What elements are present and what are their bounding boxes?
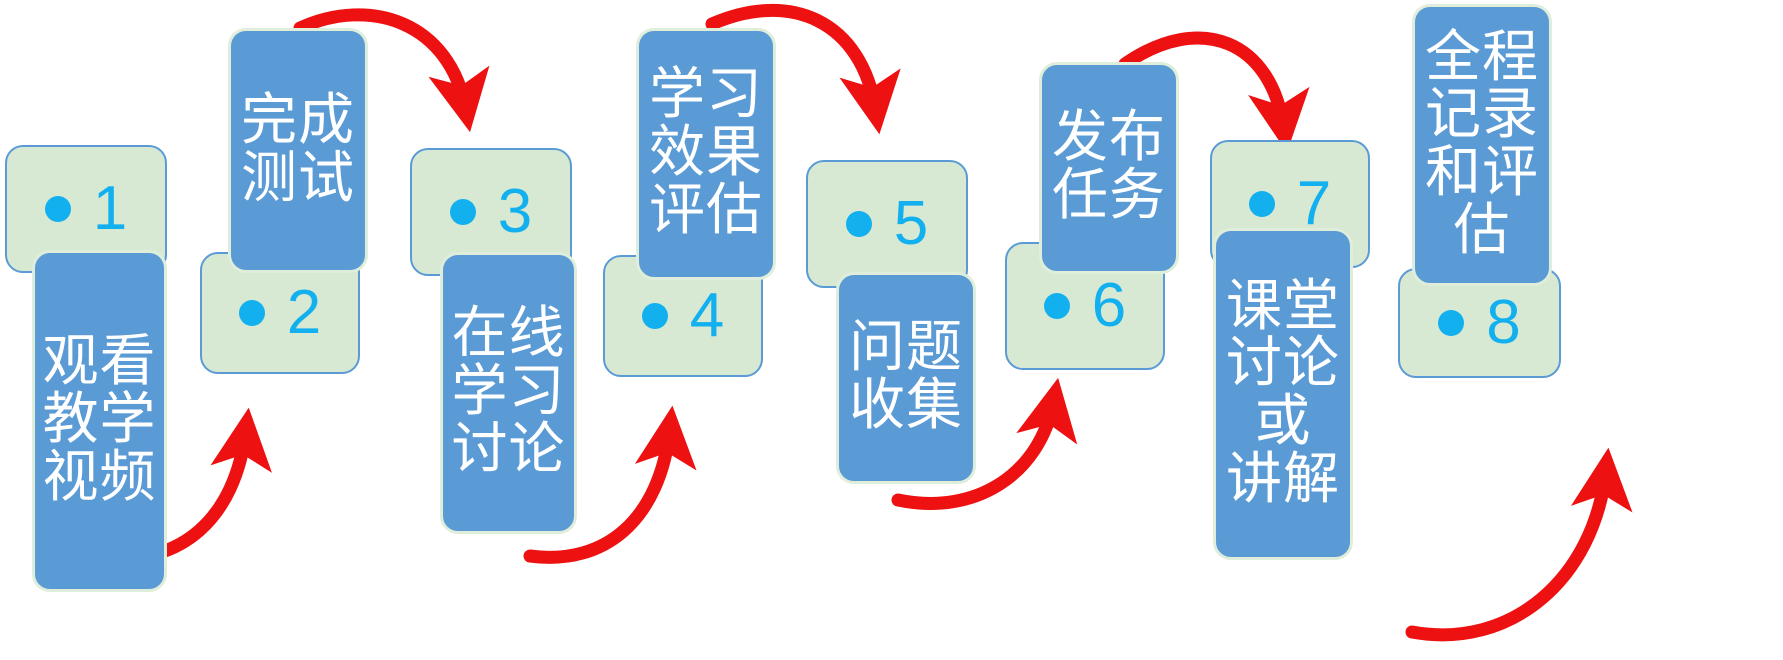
bullet-icon — [239, 300, 265, 326]
step-number: 4 — [690, 285, 724, 347]
step-number: 3 — [498, 181, 532, 243]
step-number: 6 — [1092, 275, 1126, 337]
step-label-4[interactable]: 学习 效果 评估 — [636, 28, 776, 280]
step-label-7[interactable]: 课堂 讨论或 讲解 — [1213, 228, 1353, 560]
step-label-8[interactable]: 全程 记录 和评 估 — [1412, 4, 1552, 286]
step-label-5[interactable]: 问题 收集 — [836, 272, 976, 484]
step-label-text: 课堂 讨论或 讲解 — [1220, 279, 1346, 510]
step-label-text: 全程 记录 和评 估 — [1425, 30, 1539, 261]
step-label-text: 发布 任务 — [1052, 110, 1166, 225]
bullet-icon — [1438, 310, 1464, 336]
bullet-icon — [846, 211, 872, 237]
step-number: 7 — [1297, 173, 1331, 235]
bullet-icon — [1044, 293, 1070, 319]
step-label-text: 在线 学习 讨论 — [452, 306, 566, 479]
step-label-1[interactable]: 观看 教学 视频 — [32, 250, 167, 592]
step-number: 2 — [287, 282, 321, 344]
bullet-icon — [450, 199, 476, 225]
step-number: 5 — [894, 193, 928, 255]
step-label-2[interactable]: 完成 测试 — [228, 28, 368, 273]
step-label-text: 完成 测试 — [241, 93, 355, 208]
step-label-text: 观看 教学 视频 — [43, 334, 157, 507]
step-number: 1 — [93, 178, 127, 240]
step-number: 8 — [1486, 292, 1520, 354]
flow-diagram-canvas: 1 观看 教学 视频 2 完成 测试 3 在线 学习 讨论 4 学习 效果 评估… — [0, 0, 1783, 660]
step-label-text: 问题 收集 — [849, 320, 963, 435]
bullet-icon — [45, 196, 71, 222]
bullet-icon — [642, 303, 668, 329]
arrow-7-to-8 — [1412, 470, 1606, 635]
step-card-5[interactable]: 5 — [806, 160, 968, 288]
step-label-text: 学习 效果 评估 — [649, 67, 763, 240]
bullet-icon — [1249, 191, 1275, 217]
step-label-6[interactable]: 发布 任务 — [1039, 62, 1179, 274]
step-label-3[interactable]: 在线 学习 讨论 — [440, 252, 577, 534]
